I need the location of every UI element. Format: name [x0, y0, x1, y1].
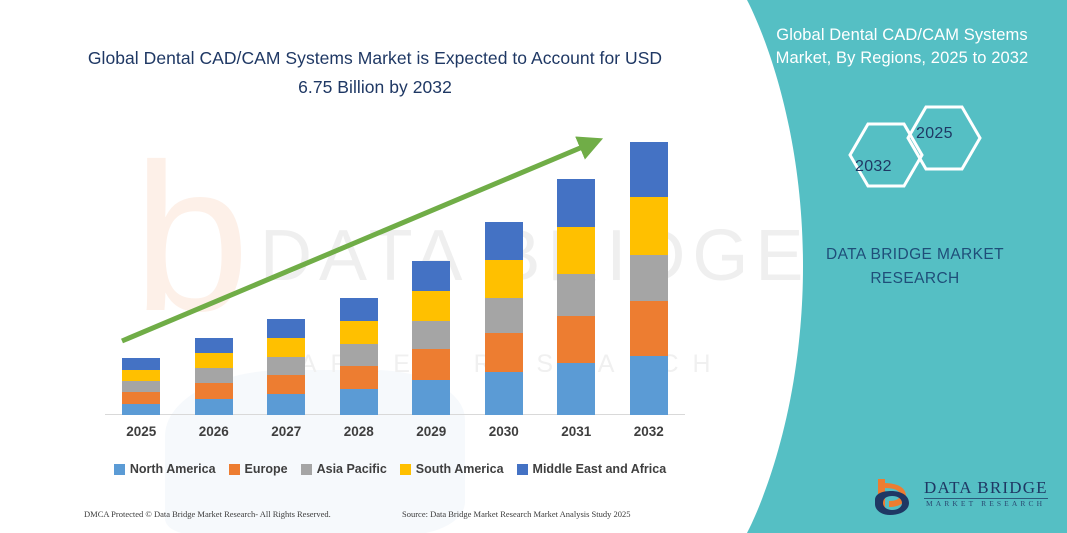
bar-segment: [122, 404, 160, 415]
bar-column: [412, 261, 450, 415]
legend-item: North America: [114, 462, 216, 476]
bar-segment: [340, 344, 378, 366]
logo-tagline: MARKET RESEARCH: [926, 499, 1045, 508]
bar-segment: [630, 255, 668, 301]
bar-segment: [485, 298, 523, 333]
bar-column: [340, 298, 378, 415]
x-axis-labels: 20252026202720282029203020312032: [105, 424, 685, 448]
logo-b-icon: [872, 476, 918, 518]
data-bridge-logo: DATA BRIDGE MARKET RESEARCH: [872, 474, 1052, 520]
bar-segment: [195, 383, 233, 399]
legend-label: South America: [416, 462, 504, 476]
bar-segment: [557, 316, 595, 363]
legend-swatch: [517, 464, 528, 475]
chart-legend: North AmericaEuropeAsia PacificSouth Ame…: [100, 459, 680, 479]
bar-segment: [630, 356, 668, 415]
legend-swatch: [114, 464, 125, 475]
stacked-bar-chart: [105, 120, 685, 415]
bar-segment: [485, 260, 523, 298]
bar-segment: [122, 381, 160, 392]
bar-column: [557, 179, 595, 415]
x-axis-tick-label: 2030: [474, 424, 534, 439]
page-title: Global Dental CAD/CAM Systems Market is …: [70, 44, 680, 102]
x-axis-tick-label: 2032: [619, 424, 679, 439]
logo-name: DATA BRIDGE: [924, 478, 1048, 498]
legend-swatch: [229, 464, 240, 475]
panel-brand: DATA BRIDGE MARKET RESEARCH: [790, 243, 1040, 291]
footer-source: Source: Data Bridge Market Research Mark…: [402, 509, 631, 519]
legend-item: Europe: [229, 462, 288, 476]
bar-segment: [267, 394, 305, 415]
bar-segment: [195, 353, 233, 368]
bar-segment: [485, 222, 523, 260]
bar-segment: [267, 338, 305, 357]
x-axis-tick-label: 2026: [184, 424, 244, 439]
bar-segment: [485, 333, 523, 372]
x-axis-tick-label: 2029: [401, 424, 461, 439]
bar-segment: [557, 227, 595, 274]
panel-title: Global Dental CAD/CAM Systems Market, By…: [752, 24, 1052, 70]
bar-segment: [412, 261, 450, 291]
bar-segment: [340, 298, 378, 321]
bar-segment: [412, 291, 450, 321]
legend-label: Europe: [245, 462, 288, 476]
legend-label: North America: [130, 462, 216, 476]
x-axis-tick-label: 2031: [546, 424, 606, 439]
bar-segment: [195, 399, 233, 415]
legend-item: Asia Pacific: [301, 462, 387, 476]
bar-segment: [122, 392, 160, 404]
bar-segment: [557, 179, 595, 227]
bar-segment: [195, 338, 233, 353]
bar-segment: [412, 380, 450, 415]
x-axis-tick-label: 2025: [111, 424, 171, 439]
hexagon-badges: 2032 2025: [820, 98, 1050, 213]
bar-segment: [267, 375, 305, 394]
x-axis-tick-label: 2027: [256, 424, 316, 439]
bar-segment: [122, 370, 160, 381]
bar-segment: [267, 357, 305, 375]
infographic-canvas: b DATA BRIDGE MARKET RESEARCH Global Den…: [0, 0, 1067, 533]
bar-segment: [630, 142, 668, 197]
legend-item: South America: [400, 462, 504, 476]
bar-segment: [195, 368, 233, 383]
hexagon-label-start: 2032: [855, 158, 892, 176]
legend-label: Middle East and Africa: [533, 462, 667, 476]
x-axis-tick-label: 2028: [329, 424, 389, 439]
bar-segment: [267, 319, 305, 338]
legend-item: Middle East and Africa: [517, 462, 667, 476]
bar-segment: [340, 366, 378, 389]
bar-column: [195, 338, 233, 415]
bar-column: [485, 222, 523, 415]
bar-segment: [557, 274, 595, 316]
legend-swatch: [301, 464, 312, 475]
bar-segment: [485, 372, 523, 415]
bar-segment: [340, 389, 378, 415]
bar-column: [122, 358, 160, 415]
footer-copyright: DMCA Protected © Data Bridge Market Rese…: [84, 509, 331, 519]
bar-segment: [412, 321, 450, 349]
hexagon-label-end: 2025: [916, 125, 953, 143]
bar-column: [630, 142, 668, 415]
legend-swatch: [400, 464, 411, 475]
bar-segment: [630, 301, 668, 356]
bar-segment: [122, 358, 160, 370]
bar-segment: [412, 349, 450, 380]
bar-segment: [630, 197, 668, 255]
legend-label: Asia Pacific: [317, 462, 387, 476]
bar-column: [267, 319, 305, 415]
bar-segment: [340, 321, 378, 344]
bar-segment: [557, 363, 595, 415]
